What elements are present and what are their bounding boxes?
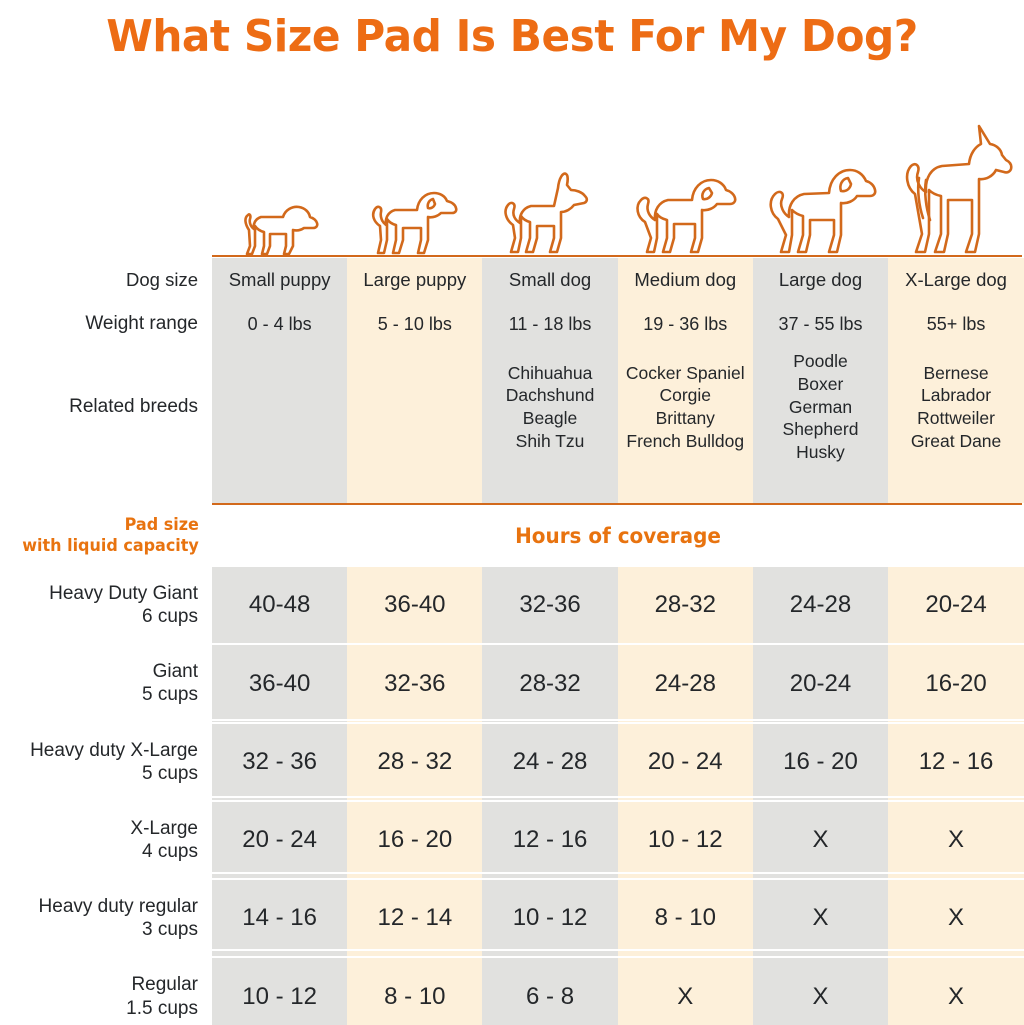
coverage-section-header: Pad size with liquid capacity Hours of c… <box>0 505 1024 567</box>
cell-dog-size-3: Medium dog <box>618 258 753 302</box>
coverage-cell-r2-c5: 12 - 16 <box>888 724 1024 800</box>
breed-name: Dachshund <box>506 384 595 407</box>
breed-name: Bernese <box>911 362 1001 385</box>
coverage-cell-r2-c0: 32 - 36 <box>212 724 347 800</box>
pad-size-row-label: Heavy duty X-Large5 cups <box>0 724 212 800</box>
table-row-dog-size: Dog size Small puppy Large puppy Small d… <box>0 258 1024 302</box>
page-title: What Size Pad Is Best For My Dog? <box>20 0 1003 72</box>
breed-name: Husky <box>783 441 859 464</box>
coverage-cell-r0-c1: 36-40 <box>347 567 482 643</box>
dog-silhouette-row <box>212 110 1024 258</box>
coverage-table-row: Heavy duty regular3 cups14 - 1612 - 1410… <box>0 880 1024 956</box>
breed-name: Labrador <box>911 384 1001 407</box>
infographic-page: What Size Pad Is Best For My Dog? <box>0 0 1024 1025</box>
pad-size-label: Pad size with liquid capacity <box>13 505 212 567</box>
coverage-cell-r4-c1: 12 - 14 <box>347 880 482 956</box>
medium-dog-icon <box>632 162 740 258</box>
coverage-cell-r1-c5: 16-20 <box>888 645 1024 721</box>
breed-name: Great Dane <box>911 430 1001 453</box>
coverage-cell-r1-c2: 28-32 <box>482 645 617 721</box>
coverage-cell-r0-c5: 20-24 <box>888 567 1024 643</box>
pad-name: X-Large <box>130 817 198 840</box>
dog-cell-small-puppy <box>212 110 347 258</box>
hours-of-coverage-label: Hours of coverage <box>232 505 1003 567</box>
breed-name: Brittany <box>626 407 745 430</box>
coverage-cell-r1-c1: 32-36 <box>347 645 482 721</box>
cell-breeds-0 <box>212 346 347 468</box>
dog-info-table: Dog size Small puppy Large puppy Small d… <box>0 258 1024 468</box>
breed-name: Boxer <box>783 373 859 396</box>
cell-dog-size-1: Large puppy <box>347 258 482 302</box>
coverage-cell-r3-c0: 20 - 24 <box>212 802 347 878</box>
cell-weight-1: 5 - 10 lbs <box>347 302 482 346</box>
pad-name: Heavy Duty Giant <box>49 582 198 605</box>
x-large-dog-icon <box>897 122 1015 258</box>
row-label-dog-size: Dog size <box>0 258 212 302</box>
cell-weight-0: 0 - 4 lbs <box>212 302 347 346</box>
cell-breeds-3: Cocker SpanielCorgieBrittanyFrench Bulld… <box>618 346 753 468</box>
cell-weight-3: 19 - 36 lbs <box>618 302 753 346</box>
pad-name: Regular <box>131 973 198 996</box>
coverage-cell-r0-c4: 24-28 <box>753 567 888 643</box>
coverage-cell-r4-c3: 8 - 10 <box>618 880 753 956</box>
pad-capacity: 5 cups <box>142 762 198 785</box>
coverage-cell-r2-c2: 24 - 28 <box>482 724 617 800</box>
cell-dog-size-5: X-Large dog <box>888 258 1024 302</box>
coverage-cell-r3-c2: 12 - 16 <box>482 802 617 878</box>
coverage-cell-r3-c5: X <box>888 802 1024 878</box>
dog-cell-medium-dog <box>618 110 753 258</box>
coverage-cell-r5-c4: X <box>753 958 888 1025</box>
cell-breeds-4: PoodleBoxerGermanShepherdHusky <box>753 346 888 468</box>
breed-name: German <box>783 396 859 419</box>
cell-weight-4: 37 - 55 lbs <box>753 302 888 346</box>
coverage-cell-r5-c3: X <box>618 958 753 1025</box>
coverage-table-row: Heavy duty X-Large5 cups32 - 3628 - 3224… <box>0 724 1024 800</box>
pad-size-label-line1: Pad size <box>125 515 199 536</box>
cell-dog-size-4: Large dog <box>753 258 888 302</box>
cell-dog-size-0: Small puppy <box>212 258 347 302</box>
coverage-cell-r5-c0: 10 - 12 <box>212 958 347 1025</box>
coverage-table-row: X-Large4 cups20 - 2416 - 2012 - 1610 - 1… <box>0 802 1024 878</box>
coverage-cell-r2-c3: 20 - 24 <box>618 724 753 800</box>
coverage-cell-r4-c5: X <box>888 880 1024 956</box>
coverage-cell-r2-c4: 16 - 20 <box>753 724 888 800</box>
coverage-table-row: Heavy Duty Giant6 cups40-4836-4032-3628-… <box>0 567 1024 643</box>
pad-capacity: 3 cups <box>142 918 198 941</box>
large-dog-icon <box>765 153 877 258</box>
coverage-cell-r0-c0: 40-48 <box>212 567 347 643</box>
coverage-cell-r1-c0: 36-40 <box>212 645 347 721</box>
breed-name: Cocker Spaniel <box>626 362 745 385</box>
pad-capacity: 4 cups <box>142 840 198 863</box>
small-puppy-icon <box>237 188 323 258</box>
coverage-cell-r1-c4: 20-24 <box>753 645 888 721</box>
row-label-related-breeds: Related breeds <box>0 346 212 468</box>
coverage-cell-r3-c4: X <box>753 802 888 878</box>
coverage-cell-r4-c4: X <box>753 880 888 956</box>
pad-name: Giant <box>153 660 198 683</box>
coverage-cell-r1-c3: 24-28 <box>618 645 753 721</box>
coverage-cell-r3-c3: 10 - 12 <box>618 802 753 878</box>
coverage-cell-r4-c0: 14 - 16 <box>212 880 347 956</box>
dog-row-baseline-rule <box>212 255 1022 257</box>
pad-size-row-label: Heavy duty regular3 cups <box>0 880 212 956</box>
table-row-related-breeds: Related breeds ChihuahuaDachshundBeagleS… <box>0 346 1024 468</box>
coverage-cell-r5-c5: X <box>888 958 1024 1025</box>
coverage-cell-r0-c2: 32-36 <box>482 567 617 643</box>
dog-cell-small-dog <box>483 110 618 258</box>
cell-breeds-1 <box>347 346 482 468</box>
row-label-weight-range: Weight range <box>0 302 212 346</box>
breed-name: Beagle <box>506 407 595 430</box>
large-puppy-icon <box>367 178 463 258</box>
pad-capacity: 1.5 cups <box>126 997 198 1020</box>
breed-name: Shepherd <box>783 418 859 441</box>
cell-breeds-2: ChihuahuaDachshundBeagleShih Tzu <box>482 346 617 468</box>
breed-name: Poodle <box>783 350 859 373</box>
pad-capacity: 6 cups <box>142 605 198 628</box>
pad-capacity: 5 cups <box>142 683 198 706</box>
breed-name: Chihuahua <box>506 362 595 385</box>
coverage-table: Heavy Duty Giant6 cups40-4836-4032-3628-… <box>0 567 1024 1025</box>
dog-cell-large-dog <box>753 110 888 258</box>
coverage-table-row: Regular1.5 cups10 - 128 - 106 - 8XXX <box>0 958 1024 1025</box>
pad-size-row-label: X-Large4 cups <box>0 802 212 878</box>
pad-name: Heavy duty X-Large <box>30 739 198 762</box>
pad-size-row-label: Giant5 cups <box>0 645 212 721</box>
cell-weight-5: 55+ lbs <box>888 302 1024 346</box>
pad-size-row-label: Heavy Duty Giant6 cups <box>0 567 212 643</box>
coverage-cell-r5-c2: 6 - 8 <box>482 958 617 1025</box>
coverage-cell-r3-c1: 16 - 20 <box>347 802 482 878</box>
breed-name: Corgie <box>626 384 745 407</box>
breed-name: Rottweiler <box>911 407 1001 430</box>
cell-dog-size-2: Small dog <box>482 258 617 302</box>
small-dog-icon <box>499 168 601 258</box>
coverage-cell-r2-c1: 28 - 32 <box>347 724 482 800</box>
pad-size-label-line2: with liquid capacity <box>22 536 199 557</box>
dog-cell-x-large-dog <box>888 110 1023 258</box>
cell-weight-2: 11 - 18 lbs <box>482 302 617 346</box>
coverage-table-row: Giant5 cups36-4032-3628-3224-2820-2416-2… <box>0 645 1024 721</box>
cell-breeds-5: BerneseLabradorRottweilerGreat Dane <box>888 346 1024 468</box>
coverage-cell-r4-c2: 10 - 12 <box>482 880 617 956</box>
coverage-cell-r5-c1: 8 - 10 <box>347 958 482 1025</box>
breed-name: French Bulldog <box>626 430 745 453</box>
table-row-weight-range: Weight range 0 - 4 lbs 5 - 10 lbs 11 - 1… <box>0 302 1024 346</box>
coverage-cell-r0-c3: 28-32 <box>618 567 753 643</box>
pad-name: Heavy duty regular <box>39 895 198 918</box>
breed-name: Shih Tzu <box>506 430 595 453</box>
dog-cell-large-puppy <box>347 110 482 258</box>
pad-size-row-label: Regular1.5 cups <box>0 958 212 1025</box>
